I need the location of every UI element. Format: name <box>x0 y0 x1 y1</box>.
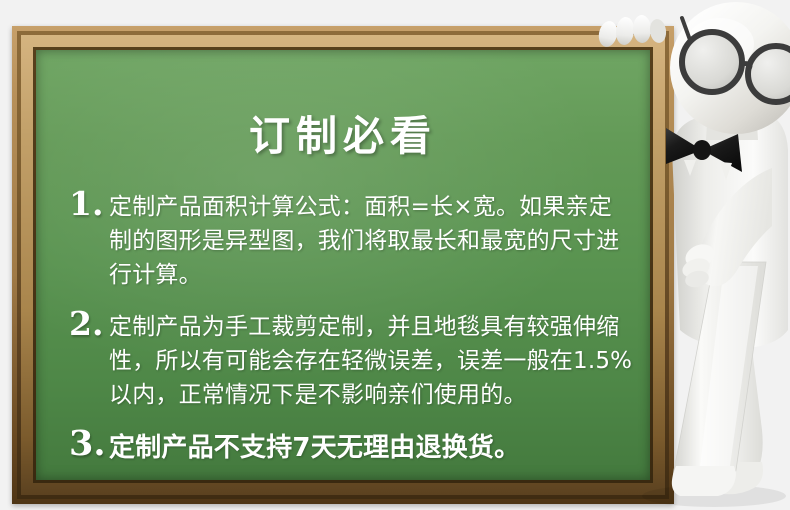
rule-number-2: 2. <box>69 307 109 341</box>
page-title: 订制必看 <box>36 102 650 162</box>
mascot-hand <box>680 240 718 289</box>
rule-text-2: 定制产品为手工裁剪定制，并且地毯具有较强伸缩性，所以有可能会存在轻微误差，误差一… <box>109 310 634 412</box>
mascot-head-highlight <box>686 18 754 70</box>
mascot-back-leg <box>700 300 763 491</box>
chalkboard-content: 订制必看 1. 定制产品面积计算公式：面积=长×宽。如果亲定制的图形是异型图，我… <box>36 50 650 480</box>
mascot-front-leg-highlight <box>700 266 758 466</box>
chalkboard-frame: 订制必看 1. 定制产品面积计算公式：面积=长×宽。如果亲定制的图形是异型图，我… <box>12 26 674 504</box>
mascot-arm <box>697 168 772 286</box>
frame-inner-liner: 订制必看 1. 定制产品面积计算公式：面积=长×宽。如果亲定制的图形是异型图，我… <box>33 47 653 483</box>
mascot-front-foot <box>672 466 736 496</box>
rule-number-3: 3. <box>69 427 109 461</box>
bow-tie-icon <box>666 128 742 180</box>
chalkboard-surface: 订制必看 1. 定制产品面积计算公式：面积=长×宽。如果亲定制的图形是异型图，我… <box>36 50 650 480</box>
glasses-icon <box>682 18 790 102</box>
rule-item-1: 1. 定制产品面积计算公式：面积=长×宽。如果亲定制的图形是异型图，我们将取最长… <box>69 190 634 292</box>
frame-inner-bevel: 订制必看 1. 定制产品面积计算公式：面积=长×宽。如果亲定制的图形是异型图，我… <box>21 35 665 495</box>
rule-item-3: 3. 定制产品不支持7天无理由退换货。 <box>69 430 634 466</box>
rule-text-3: 定制产品不支持7天无理由退换货。 <box>109 430 634 466</box>
rule-number-1: 1. <box>69 187 109 221</box>
mascot-back-foot <box>705 462 763 494</box>
rules-list: 1. 定制产品面积计算公式：面积=长×宽。如果亲定制的图形是异型图，我们将取最长… <box>69 190 634 480</box>
frame-middle-bevel: 订制必看 1. 定制产品面积计算公式：面积=长×宽。如果亲定制的图形是异型图，我… <box>17 31 669 499</box>
mascot-front-leg <box>673 262 766 494</box>
mascot-head <box>670 2 790 134</box>
rule-item-2: 2. 定制产品为手工裁剪定制，并且地毯具有较强伸缩性，所以有可能会存在轻微误差，… <box>69 310 634 412</box>
poster-canvas: 订制必看 1. 定制产品面积计算公式：面积=长×宽。如果亲定制的图形是异型图，我… <box>0 0 790 510</box>
rule-text-1: 定制产品面积计算公式：面积=长×宽。如果亲定制的图形是异型图，我们将取最长和最宽… <box>109 190 634 292</box>
mascot-neck <box>706 106 758 140</box>
mascot-torso <box>672 112 788 348</box>
